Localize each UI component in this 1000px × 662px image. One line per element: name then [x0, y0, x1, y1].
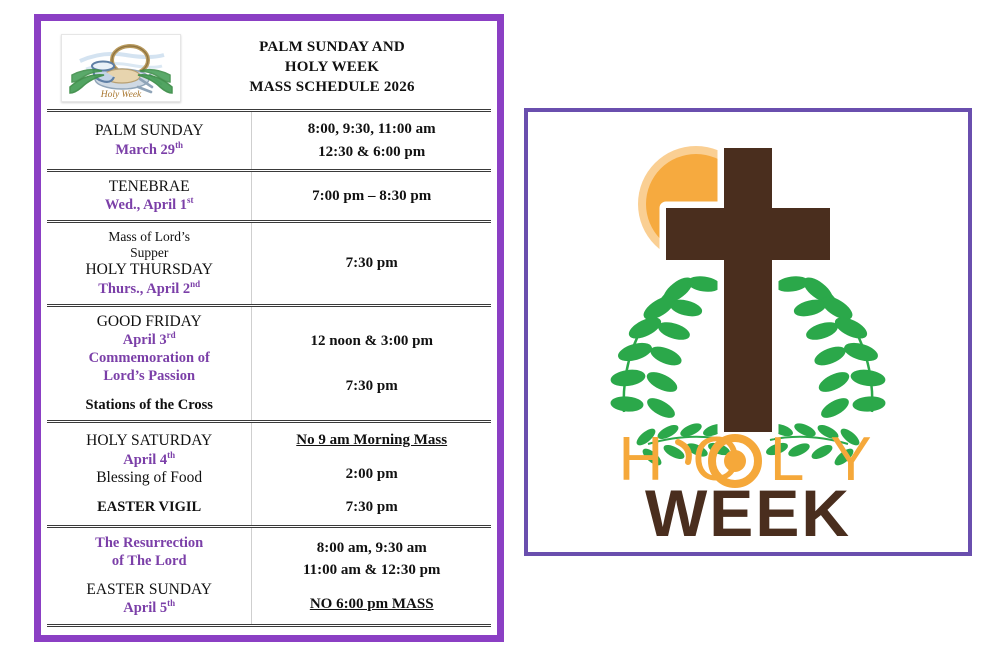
svg-text:Holy Week: Holy Week [100, 90, 142, 100]
event-line: PALM SUNDAY [51, 122, 247, 140]
event-line: Wed., April 1st [51, 196, 247, 214]
event-line: HOLY THURSDAY [51, 261, 247, 279]
event-line: GOOD FRIDAY [51, 313, 247, 331]
event-cell: PALM SUNDAYMarch 29th [47, 111, 252, 171]
event-line: Thurs., April 2nd [51, 280, 247, 298]
event-line: EASTER VIGIL [51, 498, 247, 516]
time-line: 7:30 pm [256, 496, 487, 519]
event-line: The Resurrection [51, 534, 247, 552]
event-cell: Mass of Lord’sSupperHOLY THURSDAYThurs.,… [47, 222, 252, 305]
ordinal-suffix: rd [167, 330, 176, 340]
time-cell: 7:00 pm – 8:30 pm [252, 171, 491, 222]
mass-schedule-table: PALM SUNDAYMarch 29th8:00, 9:30, 11:00 a… [47, 109, 491, 627]
flyer-title: PALM SUNDAY AND HOLY WEEK MASS SCHEDULE … [181, 38, 489, 98]
event-line: April 3rd [51, 331, 247, 349]
time-line: 11:00 am & 12:30 pm [256, 559, 487, 582]
schedule-row: TENEBRAEWed., April 1st7:00 pm – 8:30 pm [47, 171, 491, 222]
holy-week-artwork-panel: H O L Y WEEK [524, 108, 972, 556]
event-line: April 5th [51, 599, 247, 617]
time-line: 12 noon & 3:00 pm [256, 330, 487, 353]
title-line-1: PALM SUNDAY AND [181, 38, 483, 58]
flyer-header: Holy Week PALM SUNDAY AND HOLY WEEK MASS… [47, 27, 491, 109]
spacer [51, 570, 247, 581]
time-line: 7:30 pm [256, 375, 487, 398]
ordinal-suffix: nd [190, 279, 200, 289]
spacer [256, 452, 487, 463]
holy-week-cross-wreath-icon: H O L Y WEEK [528, 112, 968, 552]
spacer [51, 385, 247, 396]
ordinal-suffix: th [167, 450, 175, 460]
spacer [51, 487, 247, 498]
event-line: Blessing of Food [51, 469, 247, 487]
time-cell: 7:30 pm [252, 222, 491, 305]
ordinal-suffix: th [167, 599, 175, 609]
ordinal-suffix: st [187, 195, 194, 205]
event-line: HOLY SATURDAY [51, 432, 247, 450]
flyer-content: Holy Week PALM SUNDAY AND HOLY WEEK MASS… [47, 27, 491, 629]
time-line: 2:00 pm [256, 463, 487, 486]
schedule-row: PALM SUNDAYMarch 29th8:00, 9:30, 11:00 a… [47, 111, 491, 171]
event-cell: GOOD FRIDAYApril 3rdCommemoration ofLord… [47, 305, 252, 422]
event-line: Lord’s Passion [51, 367, 247, 385]
event-line: March 29th [51, 141, 247, 159]
ordinal-suffix: th [175, 140, 183, 150]
event-line: April 4th [51, 451, 247, 469]
time-cell: No 9 am Morning Mass2:00 pm7:30 pm [252, 422, 491, 527]
schedule-row: GOOD FRIDAYApril 3rdCommemoration ofLord… [47, 305, 491, 422]
mass-schedule-body: PALM SUNDAYMarch 29th8:00, 9:30, 11:00 a… [47, 111, 491, 626]
title-line-2: HOLY WEEK [181, 58, 483, 78]
week-wordmark: WEEK [645, 476, 851, 550]
spacer [256, 485, 487, 496]
spacer [256, 582, 487, 593]
time-line: 8:00, 9:30, 11:00 am [256, 118, 487, 141]
title-line-3: MASS SCHEDULE 2026 [181, 78, 483, 98]
event-line: Stations of the Cross [51, 396, 247, 414]
time-line: 8:00 am, 9:30 am [256, 537, 487, 560]
spacer [256, 353, 487, 364]
schedule-row: The Resurrectionof The LordEASTER SUNDAY… [47, 526, 491, 625]
event-line: Commemoration of [51, 349, 247, 367]
time-cell: 8:00 am, 9:30 am11:00 am & 12:30 pmNO 6:… [252, 526, 491, 625]
schedule-row: HOLY SATURDAYApril 4thBlessing of FoodEA… [47, 422, 491, 527]
schedule-row: Mass of Lord’sSupperHOLY THURSDAYThurs.,… [47, 222, 491, 305]
event-line: EASTER SUNDAY [51, 581, 247, 599]
spacer [256, 364, 487, 375]
event-line: Mass of Lord’s [51, 229, 247, 245]
time-line: 7:00 pm – 8:30 pm [256, 185, 487, 208]
time-cell: 12 noon & 3:00 pm7:30 pm [252, 305, 491, 422]
event-line: of The Lord [51, 552, 247, 570]
time-line: NO 6:00 pm MASS [256, 593, 487, 616]
event-line: TENEBRAE [51, 178, 247, 196]
event-cell: The Resurrectionof The LordEASTER SUNDAY… [47, 526, 252, 625]
holy-week-logo-icon: Holy Week [61, 34, 181, 102]
event-cell: HOLY SATURDAYApril 4thBlessing of FoodEA… [47, 422, 252, 527]
event-line: Supper [51, 245, 247, 261]
event-cell: TENEBRAEWed., April 1st [47, 171, 252, 222]
time-cell: 8:00, 9:30, 11:00 am12:30 & 6:00 pm [252, 111, 491, 171]
time-line: 7:30 pm [256, 252, 487, 275]
time-line: 12:30 & 6:00 pm [256, 141, 487, 164]
time-line: No 9 am Morning Mass [256, 429, 487, 452]
holy-week-flyer-panel: Holy Week PALM SUNDAY AND HOLY WEEK MASS… [34, 14, 504, 642]
